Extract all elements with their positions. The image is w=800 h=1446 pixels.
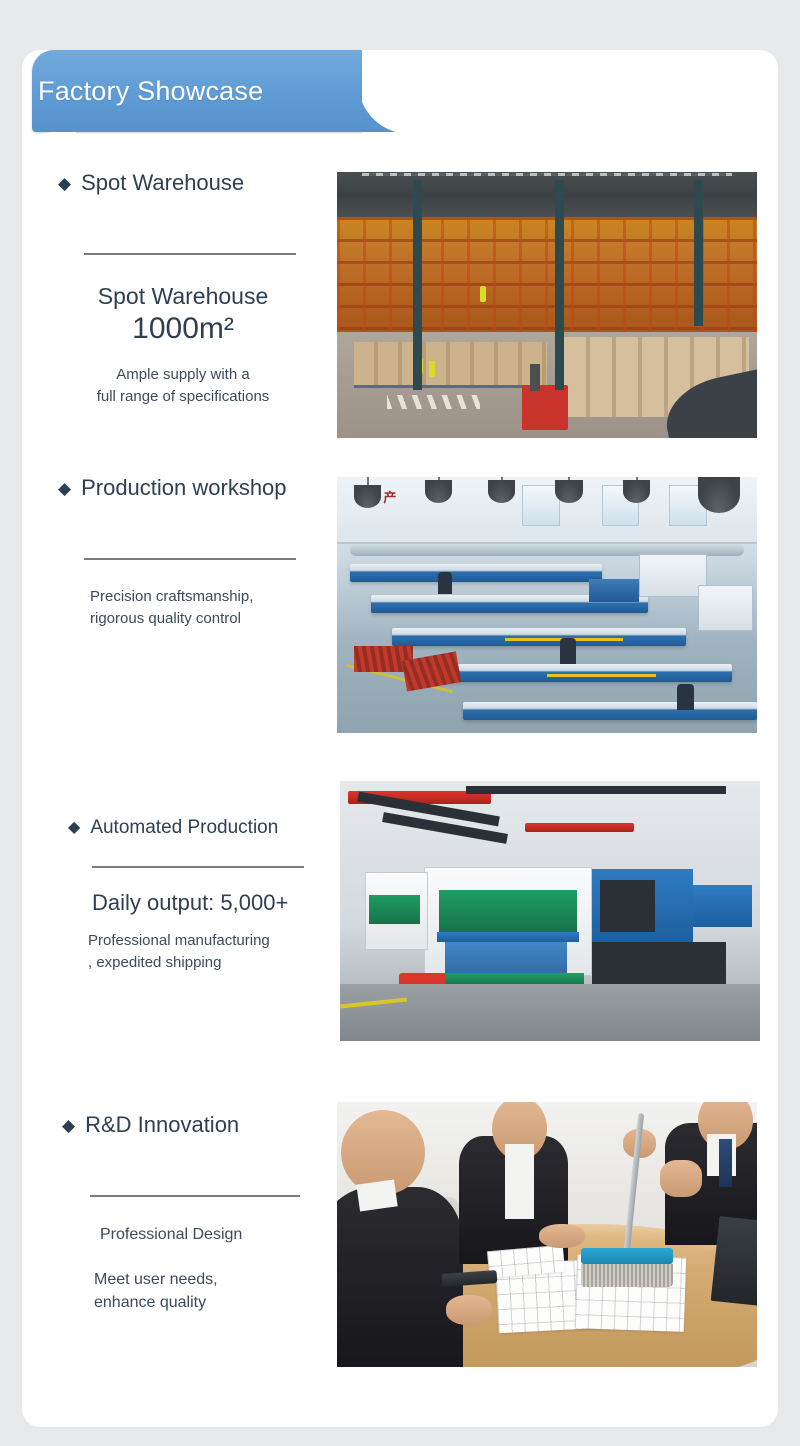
meeting-person-left-hand	[446, 1295, 492, 1324]
diamond-bullet-icon: ◆	[68, 820, 80, 836]
section-2-heading-row: ◆ Production workshop	[58, 475, 308, 501]
warehouse-pallet-row	[354, 342, 547, 385]
production-workshop-photo: 生产	[337, 477, 757, 733]
spot-warehouse-photo	[337, 172, 757, 438]
workshop-lamp	[425, 480, 452, 503]
section-2-heading: Production workshop	[81, 475, 286, 501]
automation-green-panel	[439, 890, 578, 932]
section-1-stat-label: Spot Warehouse	[58, 283, 308, 310]
warehouse-column	[413, 180, 422, 390]
workshop-assembly-line	[350, 564, 602, 582]
warehouse-forklift	[522, 385, 568, 430]
meeting-person-center-hands	[539, 1224, 585, 1248]
tab-curve-right	[362, 50, 408, 132]
section-3-divider	[92, 866, 304, 868]
warehouse-column	[555, 180, 564, 390]
broom-bristles	[581, 1264, 673, 1288]
section-rd-innovation: ◆ R&D Innovation Professional Design Mee…	[0, 1100, 800, 1370]
section-4-desc-line-2: enhance quality	[94, 1291, 318, 1314]
section-4-divider	[90, 1195, 300, 1197]
warehouse-column	[694, 180, 703, 326]
section-3-desc-line-2: , expedited shipping	[88, 952, 324, 974]
workshop-worker	[560, 638, 576, 664]
workshop-window	[522, 485, 560, 526]
section-4-heading: R&D Innovation	[85, 1112, 239, 1138]
section-3-desc-line-1: Professional manufacturing	[88, 930, 324, 952]
automation-overhead-crane	[525, 823, 634, 832]
meeting-person-left-collar	[356, 1179, 397, 1211]
warehouse-worker	[429, 361, 435, 377]
section-1-text: ◆ Spot Warehouse Spot Warehouse 1000m² A…	[58, 170, 308, 408]
meeting-person-right-tie	[719, 1139, 732, 1187]
rd-innovation-photo	[337, 1102, 757, 1367]
automation-green-panel	[369, 895, 419, 924]
factory-showcase-page: Factory Showcase ◆ Spot Warehouse Spot W…	[0, 0, 800, 1446]
broom-head	[581, 1248, 673, 1264]
automation-floor	[340, 984, 760, 1041]
section-1-stat-value: 1000m²	[58, 312, 308, 346]
workshop-lamp	[555, 480, 582, 503]
section-2-divider	[84, 558, 296, 560]
page-title: Factory Showcase	[38, 50, 263, 132]
section-1-desc-line-1: Ample supply with a	[58, 364, 308, 386]
section-1-divider	[84, 253, 296, 255]
automation-blue-pegboard	[445, 942, 567, 973]
workshop-worker	[438, 572, 452, 594]
meeting-person-center-shirt	[505, 1144, 534, 1218]
workshop-lamp	[698, 477, 740, 513]
tab-bottom-notch	[32, 132, 76, 166]
workshop-assembly-line	[421, 664, 732, 682]
automation-ceiling-rail	[466, 786, 726, 794]
section-3-heading-row: ◆ Automated Production	[68, 817, 324, 839]
section-2-desc-line-1: Precision craftsmanship,	[90, 586, 308, 608]
automation-blue-shelf	[437, 932, 580, 942]
workshop-assembly-line	[392, 628, 686, 646]
section-4-heading-row: ◆ R&D Innovation	[62, 1112, 318, 1138]
workshop-machine-blue	[589, 579, 639, 602]
diamond-bullet-icon: ◆	[62, 1117, 75, 1134]
section-1-desc-line-2: full range of specifications	[58, 386, 308, 408]
diamond-bullet-icon: ◆	[58, 480, 71, 497]
section-4-desc-line-1: Meet user needs,	[94, 1268, 318, 1291]
meeting-laptop	[711, 1216, 757, 1306]
section-3-heading: Automated Production	[90, 817, 278, 839]
section-production-workshop: ◆ Production workshop Precision craftsma…	[0, 475, 800, 765]
section-2-text: ◆ Production workshop Precision craftsma…	[58, 475, 308, 630]
diamond-bullet-icon: ◆	[58, 175, 71, 192]
section-1-heading-row: ◆ Spot Warehouse	[58, 170, 308, 196]
warehouse-crosswalk	[387, 395, 479, 408]
workshop-assembly-line	[463, 702, 757, 720]
warehouse-worker	[480, 286, 486, 302]
section-spot-warehouse: ◆ Spot Warehouse Spot Warehouse 1000m² A…	[0, 170, 800, 460]
section-2-desc-line-2: rigorous quality control	[90, 608, 308, 630]
automation-machine-window	[600, 880, 655, 932]
section-automated-production: ◆ Automated Production Daily output: 5,0…	[0, 785, 800, 1055]
workshop-yellow-stripe	[547, 674, 656, 677]
workshop-lamp	[488, 480, 515, 503]
workshop-machine	[698, 585, 753, 631]
workshop-machine	[639, 554, 706, 598]
workshop-lamp	[354, 485, 381, 508]
section-3-text: ◆ Automated Production Daily output: 5,0…	[68, 785, 324, 974]
section-4-text: ◆ R&D Innovation Professional Design Mee…	[62, 1100, 318, 1315]
section-1-heading: Spot Warehouse	[81, 170, 244, 196]
section-3-stat-value: Daily output: 5,000+	[92, 890, 324, 916]
workshop-lamp	[623, 480, 650, 503]
workshop-worker	[677, 684, 694, 710]
section-4-stat-label: Professional Design	[100, 1223, 318, 1246]
automated-production-photo	[340, 781, 760, 1041]
meeting-gesturing-hand	[660, 1160, 702, 1197]
automation-molding-machine	[693, 885, 752, 927]
